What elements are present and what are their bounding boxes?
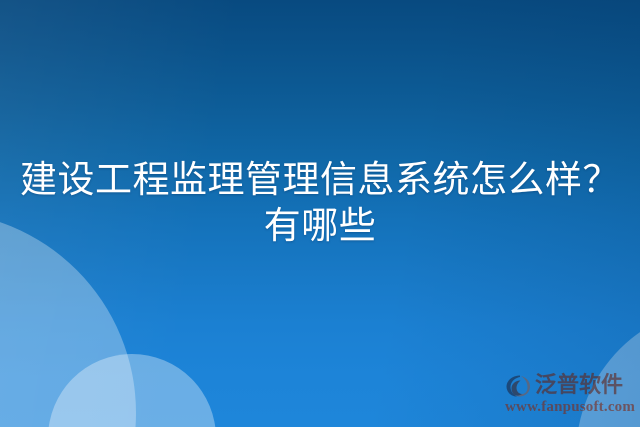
promo-banner: 建设工程监理管理信息系统怎么样？ 有哪些 泛普软件 www.fanpusoft.…	[0, 0, 640, 427]
brand-name: 泛普软件	[535, 374, 623, 398]
brand-logo-row: 泛普软件	[505, 373, 635, 399]
brand-watermark: 泛普软件 www.fanpusoft.com	[505, 373, 635, 416]
fanpu-leaf-logo-icon	[505, 374, 531, 398]
decorative-circle-medium	[48, 354, 216, 427]
brand-website-url: www.fanpusoft.com	[505, 399, 635, 416]
banner-headline: 建设工程监理管理信息系统怎么样？ 有哪些	[0, 158, 640, 250]
